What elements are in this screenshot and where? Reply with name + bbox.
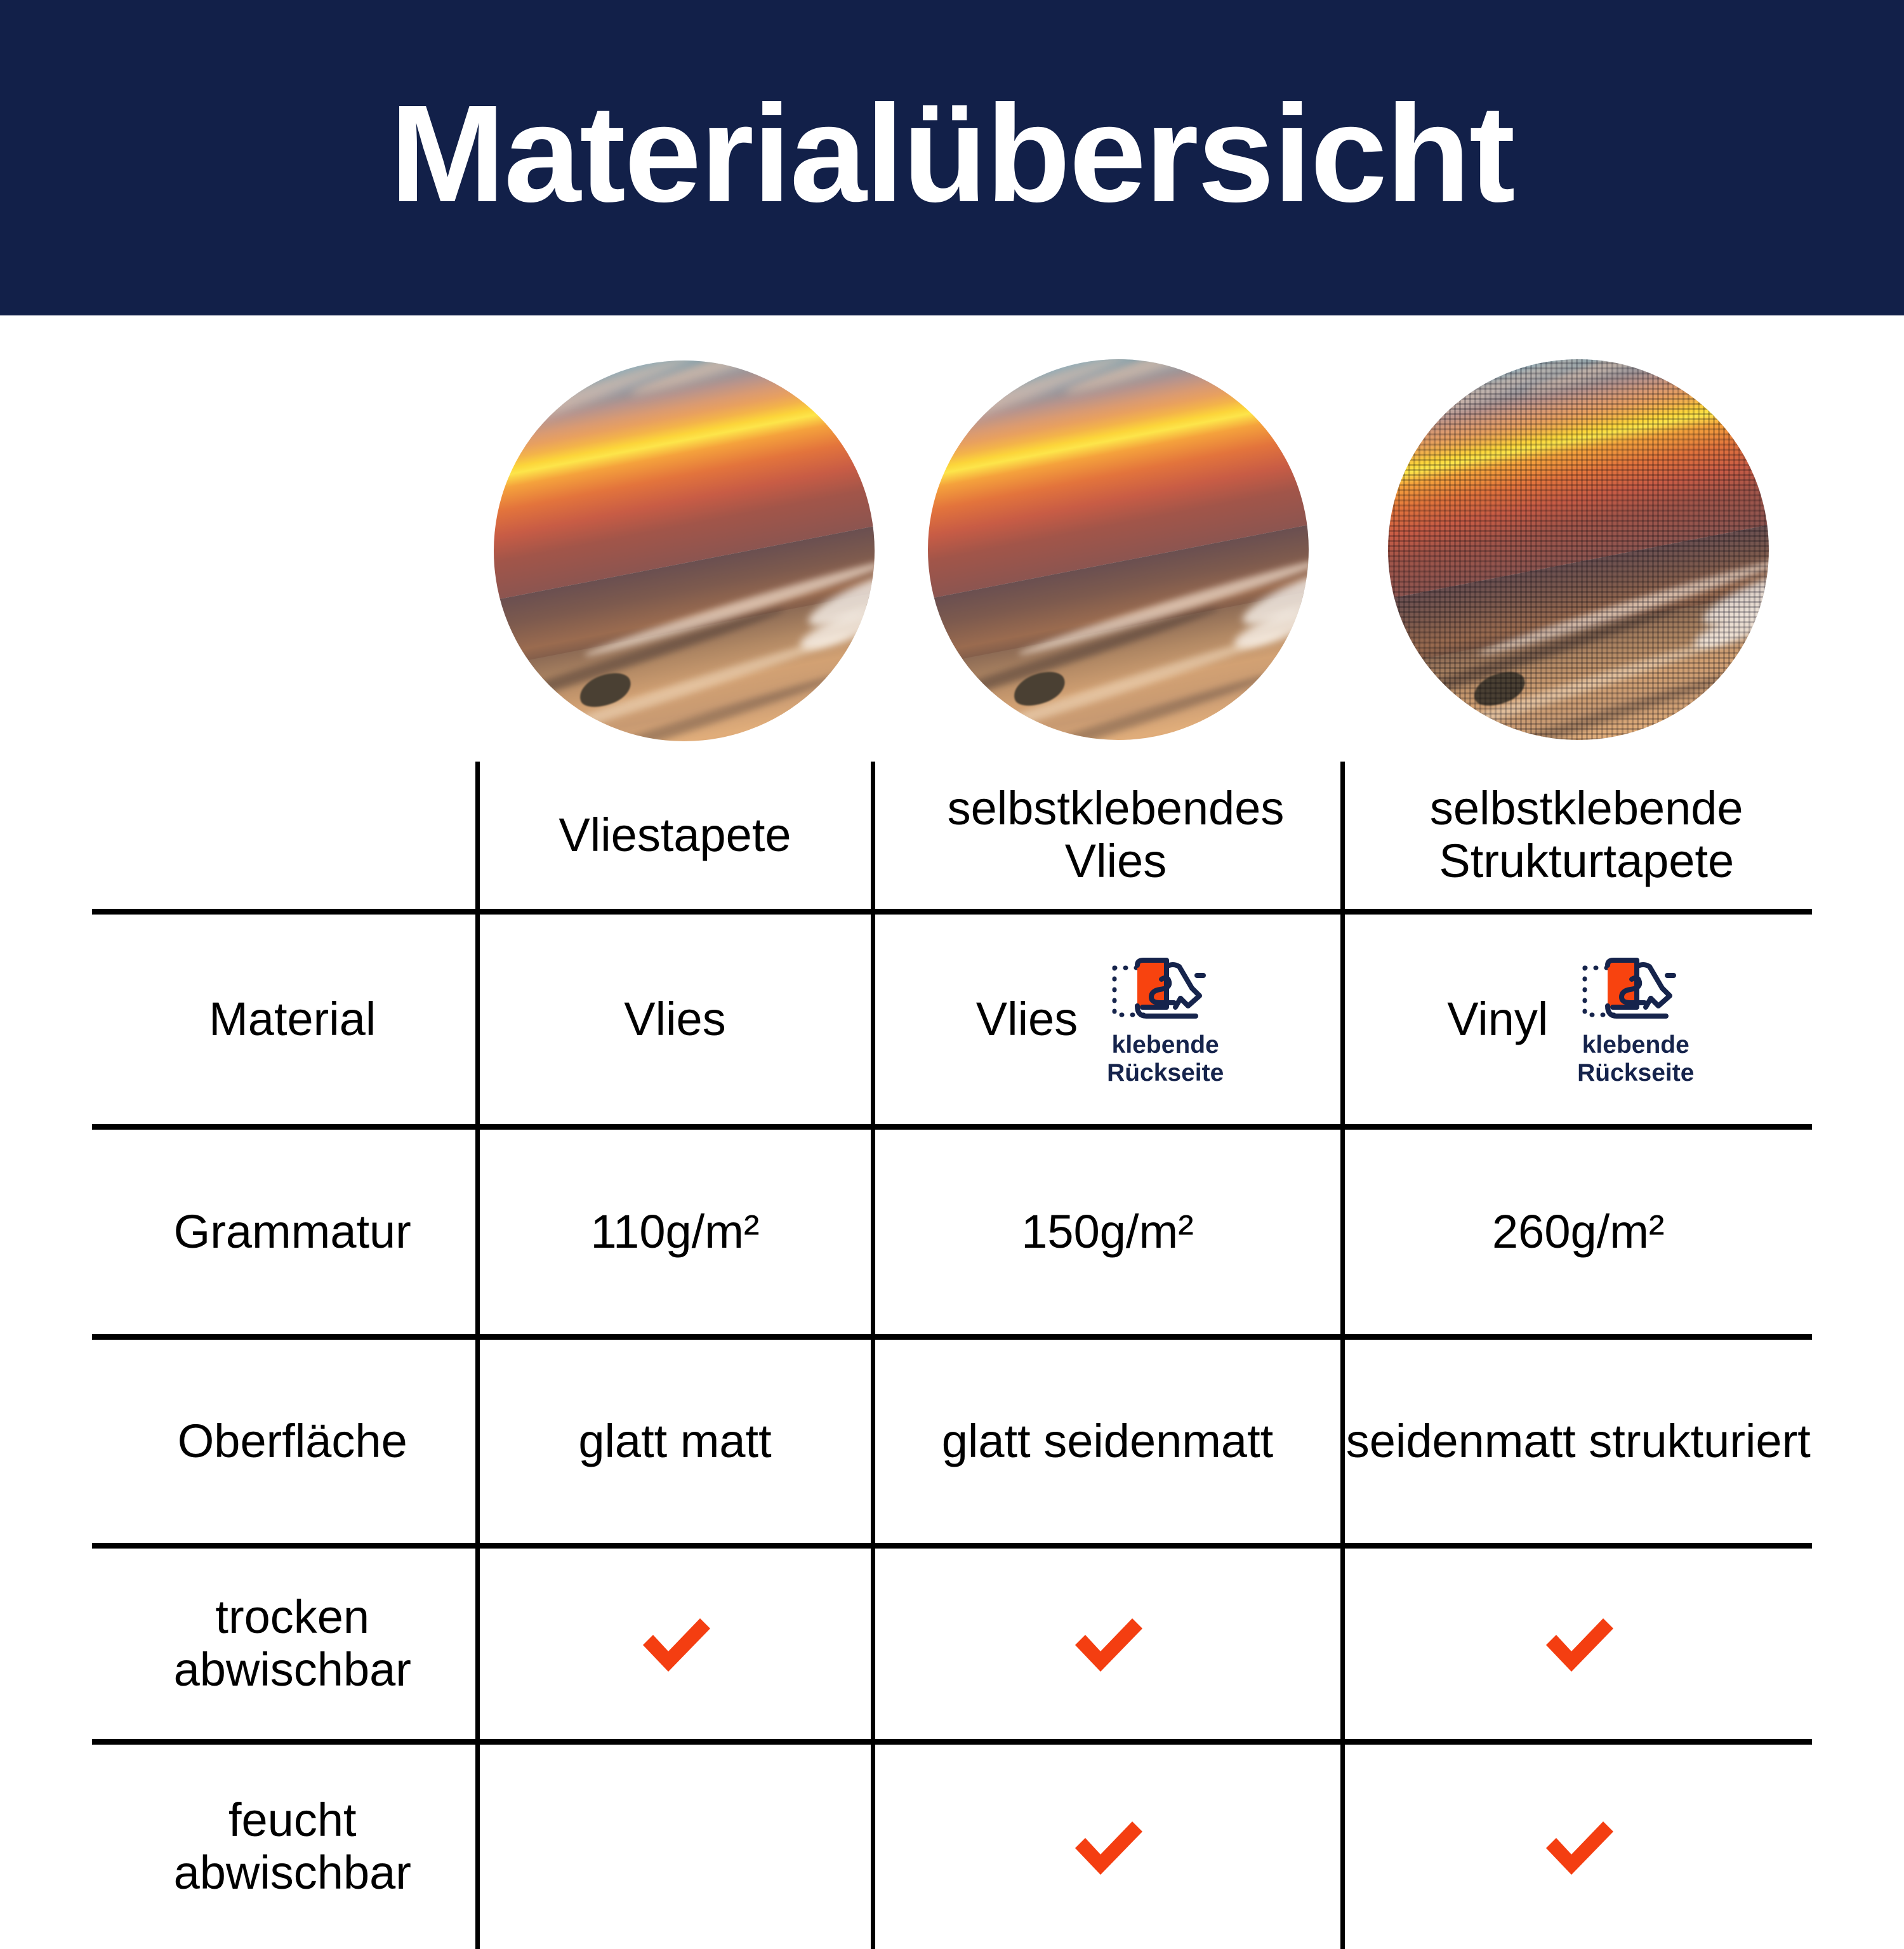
column-header-2: selbstklebendes Vlies [873,762,1342,912]
peel-adhesive-backing-icon [1578,951,1693,1027]
cell-value: Vinyl [1447,993,1548,1046]
table-header-row: Vliestapete selbstklebendes Vlies selbst… [92,762,1812,912]
badge-label: klebendeRückseite [1577,1031,1694,1088]
swatch-gallery [0,354,1904,754]
cell-feucht-selbstklebendes-vlies [873,1742,1342,1949]
badge-label: klebendeRückseite [1107,1031,1224,1088]
cell-grammatur-vliestapete: 110g/m² [477,1127,873,1337]
empty-cell [634,1813,717,1881]
table-corner-cell [92,762,477,912]
cell-trocken-selbstklebendes-vlies [873,1546,1342,1742]
cell-trocken-vliestapete [477,1546,873,1742]
column-header-1: Vliestapete [477,762,873,912]
swatch-vliestapete [494,360,875,741]
beach-sunset-scene [928,359,1309,740]
cell-grammatur-selbstklebendes-vlies: 150g/m² [873,1127,1342,1337]
cell-material-vliestapete: Vlies [477,912,873,1127]
swatch-selbstklebende-strukturtapete [1388,359,1769,740]
cell-oberflaeche-vliestapete: glatt matt [477,1337,873,1546]
cell-feucht-strukturtapete [1342,1742,1812,1949]
cell-value: Vlies [624,993,725,1046]
check-icon [1066,1609,1149,1678]
cell-feucht-vliestapete [477,1742,873,1949]
beach-sunset-scene [494,360,875,741]
row-label-grammatur: Grammatur [92,1127,477,1337]
row-label-trocken-abwischbar: trocken abwischbar [92,1546,477,1742]
table-row: Material Vlies Vlies [92,912,1812,1127]
cell-material-selbstklebendes-vlies: Vlies [873,912,1342,1127]
row-label-oberflaeche: Oberfläche [92,1337,477,1546]
cell-trocken-strukturtapete [1342,1546,1812,1742]
adhesive-backing-badge: klebendeRückseite [1562,951,1709,1088]
check-icon [634,1609,717,1678]
check-icon [1537,1609,1620,1678]
column-header-3: selbstklebende Strukturtapete [1342,762,1812,912]
material-comparison-table: Vliestapete selbstklebendes Vlies selbst… [92,762,1812,1949]
table-row: trocken abwischbar [92,1546,1812,1742]
swatch-selbstklebendes-vlies [928,359,1309,740]
cell-grammatur-strukturtapete: 260g/m² [1342,1127,1812,1337]
check-icon [1066,1813,1149,1881]
page-header: Materialübersicht [0,0,1904,315]
row-label-feucht-abwischbar: feucht abwischbar [92,1742,477,1949]
peel-adhesive-backing-icon [1108,951,1222,1027]
cell-material-strukturtapete: Vinyl klebendeRückseite [1342,912,1812,1127]
woven-texture-overlay [1388,359,1769,740]
table-row: Grammatur 110g/m² 150g/m² 260g/m² [92,1127,1812,1337]
adhesive-backing-badge: klebendeRückseite [1092,951,1239,1088]
table-row: Oberfläche glatt matt glatt seidenmatt s… [92,1337,1812,1546]
check-icon [1537,1813,1620,1881]
cell-oberflaeche-strukturtapete: seidenmatt strukturiert [1342,1337,1812,1546]
row-label-material: Material [92,912,477,1127]
cell-oberflaeche-selbstklebendes-vlies: glatt seidenmatt [873,1337,1342,1546]
table-row: feucht abwischbar [92,1742,1812,1949]
page-title: Materialübersicht [390,85,1514,223]
cell-value: Vlies [976,993,1078,1046]
